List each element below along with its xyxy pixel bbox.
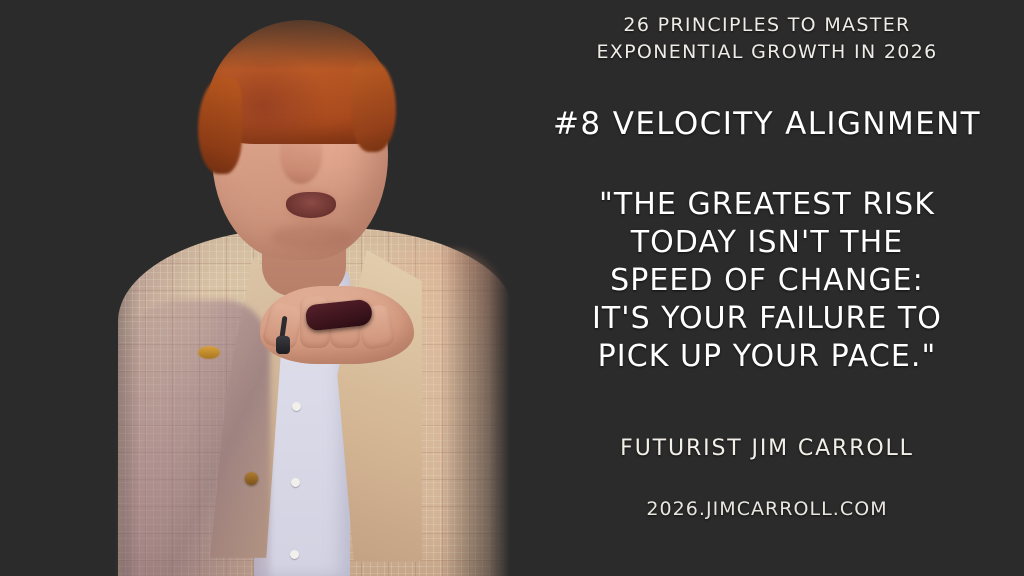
quote-line-3: SPEED OF CHANGE:	[510, 262, 1024, 300]
quote-line-1: "THE GREATEST RISK	[510, 186, 1024, 224]
speaker-photo	[0, 0, 510, 576]
quote-line-4: IT'S YOUR FAILURE TO	[510, 300, 1024, 338]
quote-text: "THE GREATEST RISK TODAY ISN'T THE SPEED…	[510, 186, 1024, 376]
attribution: FUTURIST JIM CARROLL	[510, 436, 1024, 461]
kicker-line-2: EXPONENTIAL GROWTH IN 2026	[510, 39, 1024, 66]
lapel-pin	[198, 346, 220, 359]
kicker-line-1: 26 PRINCIPLES TO MASTER	[510, 12, 1024, 39]
principle-headline: #8 VELOCITY ALIGNMENT	[510, 106, 1024, 142]
website-url[interactable]: 2026.JIMCARROLL.COM	[510, 498, 1024, 520]
shirt-button	[290, 550, 299, 559]
quote-line-2: TODAY ISN'T THE	[510, 224, 1024, 262]
jacket-sleeve-left	[120, 300, 270, 576]
chin-shadow	[270, 224, 352, 250]
jacket-button	[245, 472, 258, 485]
quote-line-5: PICK UP YOUR PACE."	[510, 338, 1024, 376]
shirt-button	[291, 478, 300, 487]
text-panel: 26 PRINCIPLES TO MASTER EXPONENTIAL GROW…	[510, 0, 1024, 576]
shirt-button	[292, 402, 301, 411]
series-kicker: 26 PRINCIPLES TO MASTER EXPONENTIAL GROW…	[510, 12, 1024, 66]
hair-side-left	[198, 78, 242, 174]
hair-side-right	[352, 60, 396, 152]
lapel-microphone	[276, 336, 290, 354]
mouth-open	[286, 192, 336, 218]
quote-card: 26 PRINCIPLES TO MASTER EXPONENTIAL GROW…	[0, 0, 1024, 576]
